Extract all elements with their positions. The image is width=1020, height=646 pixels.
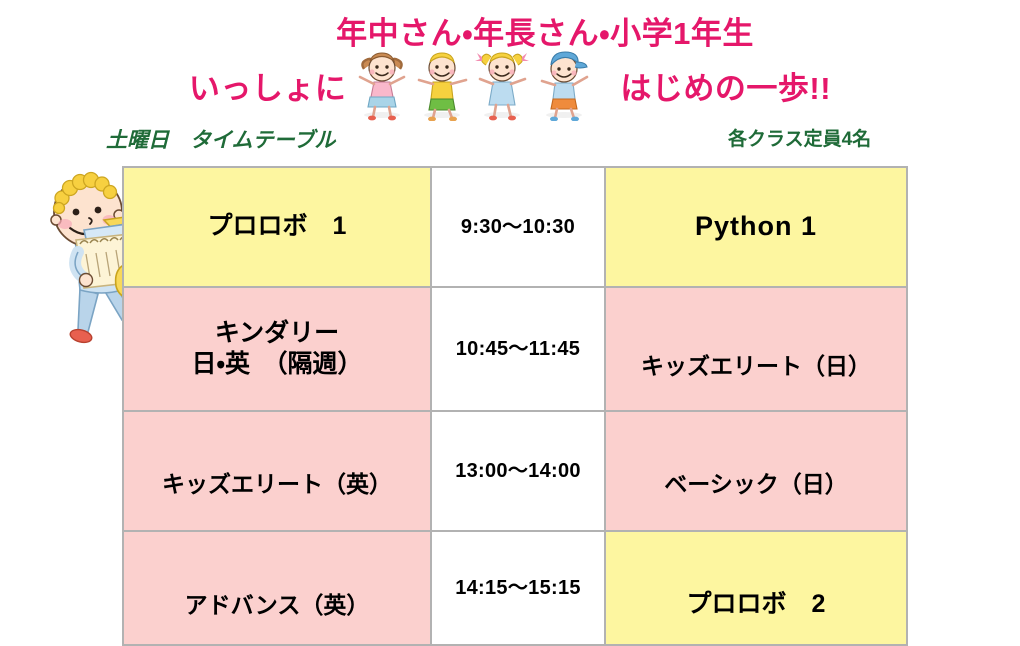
class-label: Python 1 <box>606 210 906 244</box>
time-cell: 14:15〜15:15 <box>431 531 605 645</box>
class-cell-right[interactable]: キッズエリート（日） <box>605 287 907 411</box>
table-row: キンダリー 日・英 （隔週） 10:45〜11:45 キッズエリート（日） <box>123 287 907 411</box>
class-label: キッズエリート（日） <box>606 318 906 381</box>
class-cell-left[interactable]: キッズエリート（英） <box>123 411 431 531</box>
table-row: プロロボ 1 9:30〜10:30 Python 1 <box>123 167 907 287</box>
class-cell-left[interactable]: アドバンス（英） <box>123 531 431 645</box>
headline-right-text: はじめの一歩!! <box>620 63 831 108</box>
class-cell-right[interactable]: Python 1 <box>605 167 907 287</box>
time-cell: 13:00〜14:00 <box>431 411 605 531</box>
timetable-day-label: 土曜日 タイムテーブル <box>106 124 335 154</box>
class-label: ベーシック（日） <box>606 444 906 499</box>
class-cell-right[interactable]: プロロボ 2 <box>605 531 907 645</box>
saturday-timetable: プロロボ 1 9:30〜10:30 Python 1 キンダリー 日・英 （隔週… <box>122 166 908 646</box>
page-title: 年中さん・年長さん・小学1年生 <box>0 8 1020 53</box>
table-row: キッズエリート（英） 13:00〜14:00 ベーシック（日） <box>123 411 907 531</box>
class-capacity-label: 各クラス定員4名 <box>728 124 871 151</box>
class-label: アドバンス（英） <box>124 557 430 620</box>
class-label: プロロボ 1 <box>124 211 430 242</box>
headline-row: いっしょに <box>0 56 1020 114</box>
class-label-line2: 日・英 （隔週） <box>124 349 430 380</box>
class-label: プロロボ 2 <box>606 555 906 620</box>
headline-left-text: いっしょに <box>189 63 347 108</box>
class-label: キッズエリート（英） <box>124 444 430 499</box>
class-cell-right[interactable]: ベーシック（日） <box>605 411 907 531</box>
four-children-jumping-icon <box>352 49 614 121</box>
class-label-line1: キンダリー <box>124 318 430 349</box>
table-row: アドバンス（英） 14:15〜15:15 プロロボ 2 <box>123 531 907 645</box>
class-cell-left[interactable]: キンダリー 日・英 （隔週） <box>123 287 431 411</box>
time-cell: 10:45〜11:45 <box>431 287 605 411</box>
time-cell: 9:30〜10:30 <box>431 167 605 287</box>
class-cell-left[interactable]: プロロボ 1 <box>123 167 431 287</box>
